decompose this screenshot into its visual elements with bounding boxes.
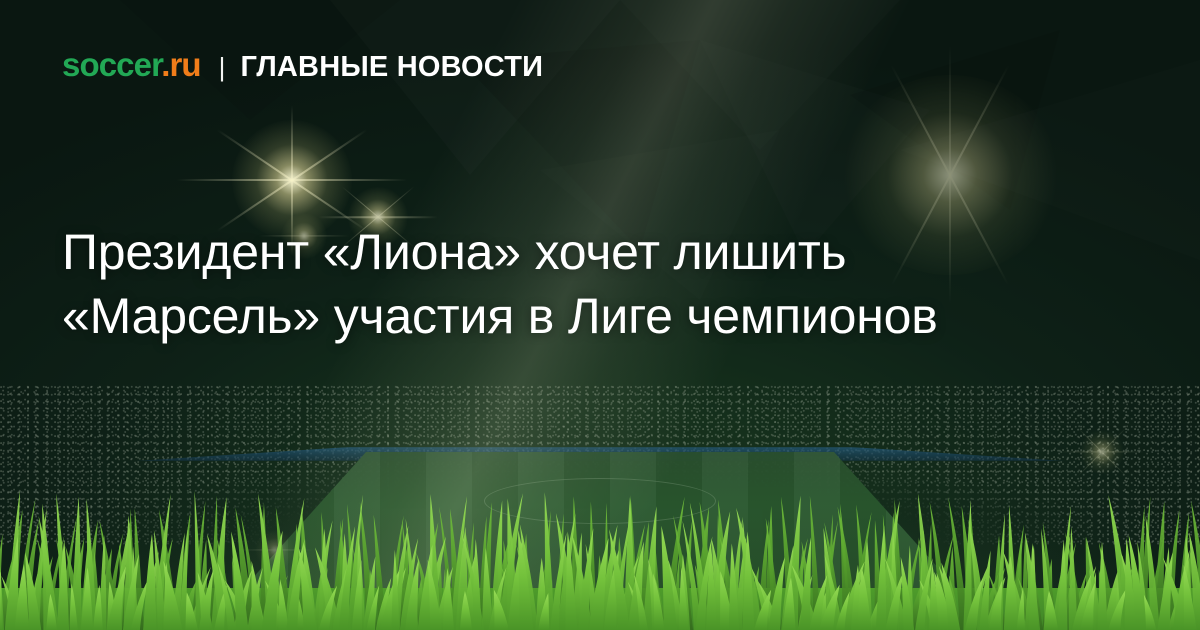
football-pitch (150, 452, 1050, 630)
article-headline: Президент «Лиона» хочет лишить «Марсель»… (62, 220, 1047, 348)
centre-circle (484, 478, 716, 524)
news-share-card: soccer.ru | ГЛАВНЫЕ НОВОСТИ Президент «Л… (0, 0, 1200, 630)
card-header: soccer.ru | ГЛАВНЫЕ НОВОСТИ (62, 48, 543, 82)
site-logo[interactable]: soccer.ru (62, 48, 201, 81)
header-divider: | (219, 54, 226, 80)
light-flare-icon (1080, 430, 1124, 474)
logo-word: soccer (62, 46, 161, 83)
section-label: ГЛАВНЫЕ НОВОСТИ (240, 53, 543, 82)
logo-tld: .ru (161, 46, 200, 83)
